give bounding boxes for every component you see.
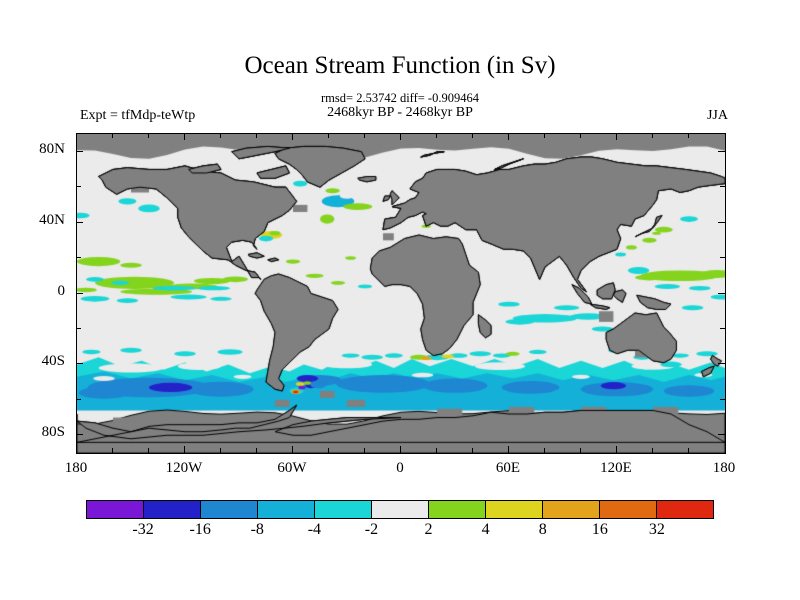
xtick-40 xyxy=(472,448,473,453)
xtick-top--80 xyxy=(256,133,257,138)
season-label: JJA xyxy=(707,108,728,124)
colorbar-segment-1 xyxy=(143,501,200,518)
ytick-right--40 xyxy=(718,363,725,364)
ytick-0 xyxy=(76,293,83,294)
xtick-top-120 xyxy=(616,133,617,140)
xtick-top-140 xyxy=(652,133,653,138)
colorbar-tick-4: 4 xyxy=(482,521,490,539)
xtick-120 xyxy=(616,446,617,453)
rmsd-subtitle: rmsd= 2.53742 diff= -0.909464 xyxy=(0,91,800,106)
ytick-right-80 xyxy=(718,151,725,152)
colorbar-segment-8 xyxy=(542,501,599,518)
ytick-label-0: 0 xyxy=(58,283,66,300)
colorbar-segment-7 xyxy=(485,501,542,518)
ytick-right--60 xyxy=(720,399,725,400)
xtick--100 xyxy=(220,448,221,453)
xtick-80 xyxy=(544,448,545,453)
xtick--160 xyxy=(112,448,113,453)
ytick-label-80N: 80N xyxy=(39,141,65,158)
xtick-top-0 xyxy=(400,133,401,140)
xtick-label-120W: 120W xyxy=(166,460,203,477)
ytick-label-40N: 40N xyxy=(39,212,65,229)
figure-root: Ocean Stream Function (in Sv) rmsd= 2.53… xyxy=(0,0,800,600)
ytick-right-0 xyxy=(718,293,725,294)
colorbar xyxy=(86,500,714,519)
ytick--40 xyxy=(76,363,83,364)
xtick--120 xyxy=(184,446,185,453)
colorbar-tick-8: 8 xyxy=(539,521,547,539)
colorbar-labels: -32-16-8-4-22481632 xyxy=(86,521,714,543)
xtick-top-60 xyxy=(508,133,509,140)
xtick-0 xyxy=(400,446,401,453)
xtick-top-20 xyxy=(436,133,437,138)
ytick-right-40 xyxy=(718,222,725,223)
xtick-top-40 xyxy=(472,133,473,138)
xtick-top--160 xyxy=(112,133,113,138)
ytick-40 xyxy=(76,222,83,223)
colorbar-segment-6 xyxy=(428,501,485,518)
xtick-top--120 xyxy=(184,133,185,140)
ytick-right-20 xyxy=(720,257,725,258)
xtick-top-100 xyxy=(580,133,581,138)
xtick--20 xyxy=(364,448,365,453)
xtick-60 xyxy=(508,446,509,453)
ytick-60 xyxy=(76,186,81,187)
xtick-top--140 xyxy=(148,133,149,138)
experiment-label: Expt = tfMdp-teWtp xyxy=(80,108,195,124)
xtick-top-160 xyxy=(688,133,689,138)
colorbar-tick--8: -8 xyxy=(251,521,264,539)
colorbar-segment-9 xyxy=(599,501,656,518)
map-plot-area xyxy=(76,133,726,454)
colorbar-segment-3 xyxy=(257,501,314,518)
ytick--20 xyxy=(76,328,81,329)
xtick--60 xyxy=(292,446,293,453)
xtick-label-120E: 120E xyxy=(600,460,632,477)
ytick-label-80S: 80S xyxy=(42,424,65,441)
xtick-top-80 xyxy=(544,133,545,138)
xtick--80 xyxy=(256,448,257,453)
colorbar-segment-4 xyxy=(314,501,371,518)
xtick-label-0: 0 xyxy=(396,460,404,477)
xtick-top--40 xyxy=(328,133,329,138)
xtick-140 xyxy=(652,448,653,453)
xtick-top--20 xyxy=(364,133,365,138)
colorbar-tick--16: -16 xyxy=(190,521,211,539)
page-title: Ocean Stream Function (in Sv) xyxy=(0,52,800,80)
ytick--80 xyxy=(76,434,83,435)
ytick-label-40S: 40S xyxy=(42,353,65,370)
xtick-label-180: 180 xyxy=(65,460,88,477)
ytick-right-60 xyxy=(720,186,725,187)
xtick-label-60E: 60E xyxy=(496,460,520,477)
xtick--140 xyxy=(148,448,149,453)
colorbar-segment-10 xyxy=(656,501,713,518)
colorbar-segment-0 xyxy=(87,501,143,518)
xtick-100 xyxy=(580,448,581,453)
colorbar-tick-16: 16 xyxy=(592,521,608,539)
xtick-top--100 xyxy=(220,133,221,138)
colorbar-segment-2 xyxy=(200,501,257,518)
colorbar-tick--4: -4 xyxy=(308,521,321,539)
xtick-20 xyxy=(436,448,437,453)
ytick-right--80 xyxy=(718,434,725,435)
ytick-right--20 xyxy=(720,328,725,329)
colorbar-tick-32: 32 xyxy=(649,521,665,539)
colorbar-tick--2: -2 xyxy=(365,521,378,539)
xtick-160 xyxy=(688,448,689,453)
ytick--60 xyxy=(76,399,81,400)
xtick--40 xyxy=(328,448,329,453)
map-canvas xyxy=(77,134,725,453)
xtick-label-60W: 60W xyxy=(277,460,306,477)
colorbar-tick--32: -32 xyxy=(132,521,153,539)
xtick-top--60 xyxy=(292,133,293,140)
ytick-80 xyxy=(76,151,83,152)
colorbar-segment-5 xyxy=(371,501,428,518)
ytick-20 xyxy=(76,257,81,258)
colorbar-tick-2: 2 xyxy=(425,521,433,539)
xtick-label-180: 180 xyxy=(713,460,736,477)
